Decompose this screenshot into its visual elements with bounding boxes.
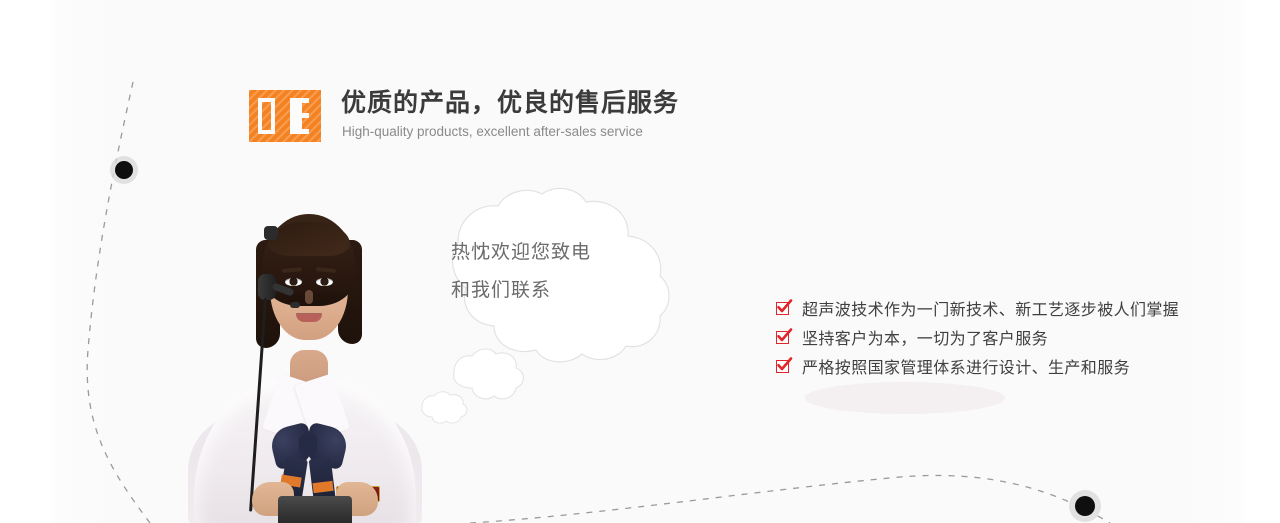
check-square-icon — [776, 302, 789, 315]
list-item-label: 超声波技术作为一门新技术、新工艺逐步被人们掌握 — [802, 298, 1179, 324]
mouth — [296, 314, 322, 322]
feature-list: 超声波技术作为一门新技术、新工艺逐步被人们掌握 坚持客户为本，一切为了客户服务 … — [776, 298, 1216, 385]
speech-bubble-line-2: 和我们联系 — [451, 272, 591, 310]
page-subtitle: High-quality products, excellent after-s… — [342, 123, 643, 141]
speech-bubble-line-1: 热忱欢迎您致电 — [451, 234, 591, 272]
check-square-icon — [776, 331, 789, 344]
headset-band — [264, 226, 278, 240]
eye-left — [285, 278, 302, 286]
speech-bubble-text: 热忱欢迎您致电 和我们联系 — [451, 234, 591, 310]
list-item: 严格按照国家管理体系进行设计、生产和服务 — [776, 356, 1216, 385]
list-item-label: 严格按照国家管理体系进行设计、生产和服务 — [802, 356, 1130, 382]
promo-banner: 优质的产品，优良的售后服务 High-quality products, exc… — [0, 0, 1280, 523]
check-square-icon — [776, 360, 789, 373]
list-item-label: 坚持客户为本，一切为了客户服务 — [802, 327, 1048, 353]
bowtie-knot — [299, 434, 317, 454]
speech-bubble: 热忱欢迎您致电 和我们联系 — [398, 186, 688, 441]
section-number-badge — [249, 90, 321, 142]
small-cloud-2 — [422, 392, 467, 423]
hair-fringe — [268, 222, 350, 256]
eye-right — [316, 278, 333, 286]
headset-microphone — [290, 302, 300, 308]
list-item: 坚持客户为本，一切为了客户服务 — [776, 327, 1216, 356]
list-item: 超声波技术作为一门新技术、新工艺逐步被人们掌握 — [776, 298, 1216, 327]
page-title: 优质的产品，优良的售后服务 — [341, 88, 679, 118]
small-cloud-1 — [454, 349, 524, 399]
nose — [305, 290, 313, 304]
operator-photo — [186, 182, 424, 523]
handheld-device — [278, 496, 352, 523]
